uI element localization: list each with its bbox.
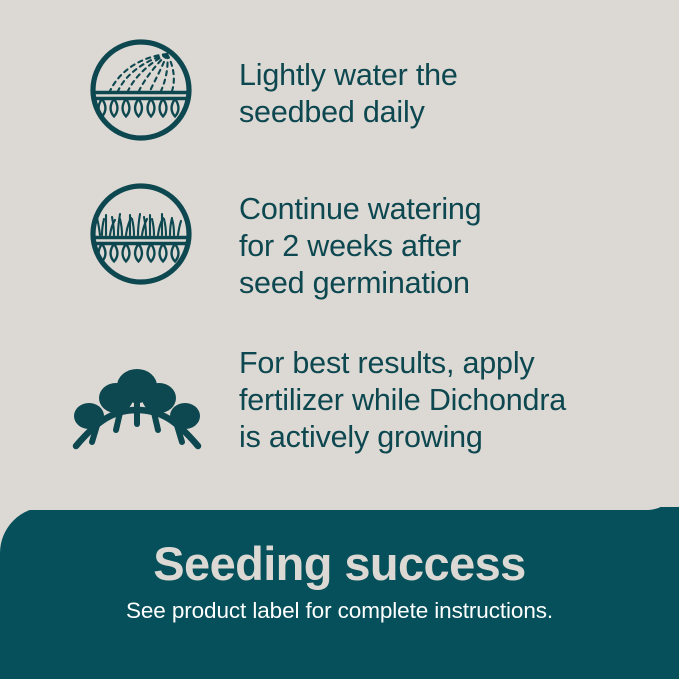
banner-title: Seeding success bbox=[0, 538, 679, 590]
step-label: Lightly water the seedbed daily bbox=[239, 57, 458, 131]
sprinkler-watering-seedbed-icon bbox=[89, 38, 193, 147]
step-item-continue-watering: Continue watering for 2 weeks after seed… bbox=[0, 143, 679, 293]
step-item-apply-fertilizer: For best results, apply fertilizer while… bbox=[0, 330, 679, 480]
infographic-page: Lightly water the seedbed daily bbox=[0, 0, 679, 679]
banner-subtitle: See product label for complete instructi… bbox=[0, 597, 679, 625]
banner-background: Seeding success See product label for co… bbox=[0, 507, 679, 679]
step-label: For best results, apply fertilizer while… bbox=[239, 345, 566, 456]
grass-sprouting-seedbed-icon bbox=[89, 182, 193, 291]
step-item-water-daily: Lightly water the seedbed daily bbox=[0, 0, 679, 150]
dichondra-plants-icon bbox=[72, 362, 202, 459]
banner-corner-notch bbox=[0, 478, 679, 510]
step-label: Continue watering for 2 weeks after seed… bbox=[239, 191, 481, 302]
bottom-banner: Seeding success See product label for co… bbox=[0, 478, 679, 679]
